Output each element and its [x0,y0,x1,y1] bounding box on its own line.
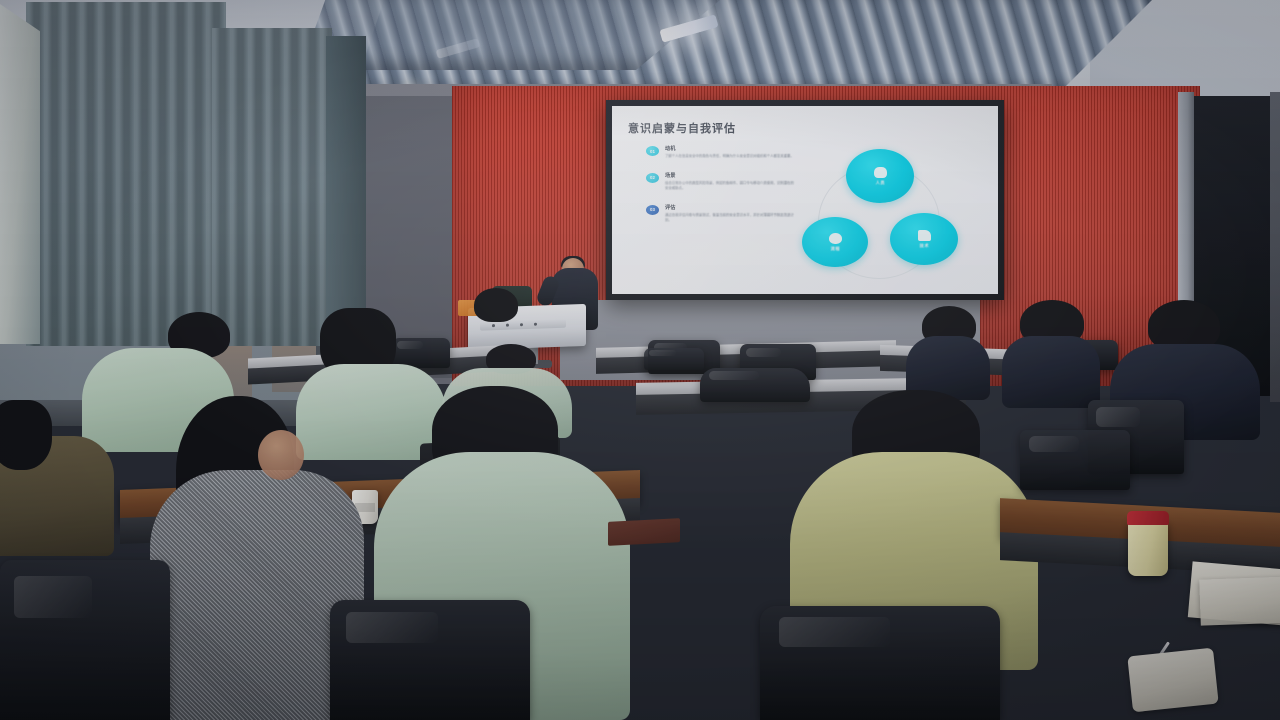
diagram-node-top: 人员 [846,149,914,203]
slide-bullet-list: 01 动机 了解个人在信息安全中的角色与责任，明确为什么安全意识对组织和个人都至… [628,145,794,294]
slide-bullet-2: 02 场景 结合日常办公中的典型风险场景，例如钓鱼邮件、弱口令与移动介质使用，识… [646,172,794,192]
screen-surface: 意识启蒙与自我评估 01 动机 了解个人在信息安全中的角色与责任，明确为什么安全… [612,106,998,294]
slide-body: 01 动机 了解个人在信息安全中的角色与责任，明确为什么安全意识对组织和个人都至… [628,145,982,294]
attendee-hair [0,400,52,470]
bullet-badge-02: 02 [646,173,659,183]
diagram-node-bottom-left-label: 流程 [831,246,840,252]
slide-title: 意识启蒙与自我评估 [628,120,982,136]
papers-foreground [1127,648,1218,713]
bullet-desc-2: 结合日常办公中的典型风险场景，例如钓鱼邮件、弱口令与移动介质使用，识别潜在的安全… [665,181,794,192]
side-chair[interactable] [1020,430,1130,490]
diagram-node-bottom-right-label: 技术 [920,243,929,249]
slide-diagram: 人员 流程 技术 [794,145,982,294]
curtain-right [326,36,366,336]
papers [1199,576,1280,625]
cup-band [355,503,375,512]
attendee-face [258,430,304,480]
front-chair[interactable] [760,606,1000,720]
conference-room-photo: 意识启蒙与自我评估 01 动机 了解个人在信息安全中的角色与责任，明确为什么安全… [0,0,1280,720]
person-icon [874,167,887,178]
bullet-heading-3: 评估 [665,204,794,211]
front-chair[interactable] [330,600,530,720]
diagram-node-bottom-right: 技术 [890,213,958,265]
diagram-node-top-label: 人员 [876,180,885,186]
document-icon [918,230,931,241]
attendee-navy-mid [1002,336,1100,408]
bullet-badge-01: 01 [646,146,659,156]
cloud-icon [829,233,842,244]
bullet-heading-1: 动机 [665,145,794,152]
curtain-left [26,2,226,346]
notebook [608,518,680,546]
front-chair[interactable] [0,560,170,720]
bullet-desc-1: 了解个人在信息安全中的角色与责任，明确为什么安全意识对组织和个人都至关重要。 [665,154,794,160]
wall-edge-strip [1270,92,1280,402]
attendee-hair [474,288,518,322]
thermos [1128,520,1168,576]
bullet-heading-2: 场景 [665,172,794,179]
bullet-desc-3: 通过自我评估问卷与情景测试，衡量当前的安全意识水平，并针对薄弱环节制定改进计划。 [665,213,794,224]
thermos-lid [1127,511,1169,525]
projection-screen: 意识启蒙与自我评估 01 动机 了解个人在信息安全中的角色与责任，明确为什么安全… [606,100,1004,300]
empty-chair[interactable] [644,348,704,370]
slide-bullet-1: 01 动机 了解个人在信息安全中的角色与责任，明确为什么安全意识对组织和个人都至… [646,145,794,160]
curtain-sheer [0,4,40,344]
curtain-middle [212,28,332,346]
bullet-badge-03: 03 [646,205,659,215]
empty-chair[interactable] [700,368,810,402]
slide: 意识启蒙与自我评估 01 动机 了解个人在信息安全中的角色与责任，明确为什么安全… [612,106,998,294]
slide-bullet-3: 03 评估 通过自我评估问卷与情景测试，衡量当前的安全意识水平，并针对薄弱环节制… [646,204,794,224]
diagram-node-bottom-left: 流程 [802,217,868,267]
